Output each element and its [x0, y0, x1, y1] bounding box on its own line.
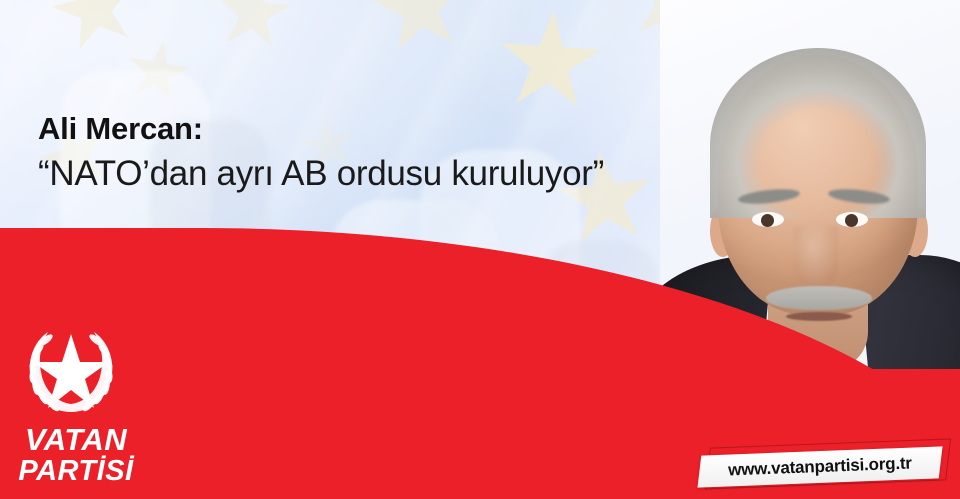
party-logo[interactable]: VATAN PARTİSİ: [8, 320, 138, 492]
logo-line-1: VATAN: [14, 424, 138, 455]
headline-quote: “NATO’dan ayrı AB ordusu kuruluyor”: [38, 154, 718, 194]
pupil-right: [845, 214, 858, 227]
headline-block: Ali Mercan: “NATO’dan ayrı AB ordusu kur…: [38, 112, 718, 194]
eye-left: [752, 212, 784, 227]
speaker-name: Ali Mercan:: [38, 112, 718, 146]
nose: [794, 226, 838, 288]
news-banner: Ali Mercan: “NATO’dan ayrı AB ordusu kur…: [0, 0, 960, 499]
pupil-left: [761, 214, 774, 227]
mouth: [786, 312, 852, 321]
logo-line-2: PARTİSİ: [14, 457, 138, 486]
moustache: [766, 286, 872, 310]
star-wreath-icon: [8, 320, 134, 424]
website-url-banner[interactable]: www.vatanpartisi.org.tr: [700, 447, 950, 493]
party-logo-text: VATAN PARTİSİ: [14, 424, 138, 486]
eye-right: [836, 212, 868, 227]
